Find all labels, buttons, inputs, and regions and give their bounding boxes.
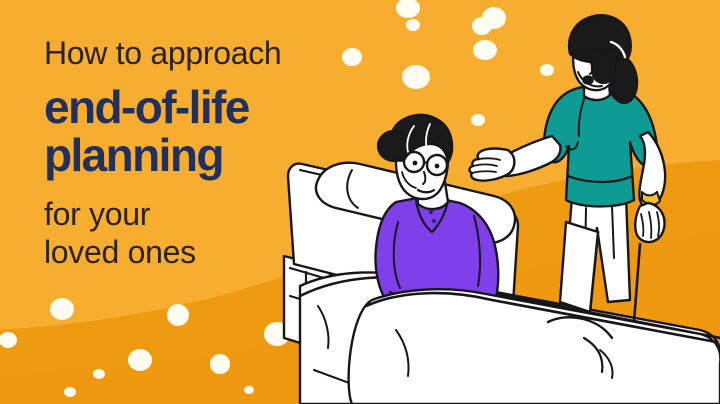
caregiver-right-hand <box>635 203 664 242</box>
headline-subtext: for your loved ones <box>44 197 394 271</box>
patient-glasses-bridge <box>424 162 427 163</box>
headline-sub-line-2: loved ones <box>44 235 394 271</box>
headline-sub-line-1: for your <box>44 197 394 233</box>
patient-eye-left <box>413 161 418 166</box>
headline-block: How to approach end-of-life planning for… <box>44 36 394 271</box>
headline-emphasis-line-2: planning <box>44 132 394 180</box>
patient-eye-right <box>435 164 440 169</box>
article-hero-banner: How to approach end-of-life planning for… <box>0 0 720 404</box>
patient-button-1 <box>429 210 433 214</box>
bed-head-panel <box>560 222 598 312</box>
bed-blanket-front <box>349 289 720 404</box>
headline-lead-line: How to approach <box>44 36 394 72</box>
patient-button-2 <box>432 219 436 223</box>
headline-emphasis-line-1: end-of-life <box>44 84 394 132</box>
bed-head-post-2 <box>634 244 640 322</box>
headline-emphasis: end-of-life planning <box>44 84 394 180</box>
caregiver-ponytail <box>613 54 637 103</box>
